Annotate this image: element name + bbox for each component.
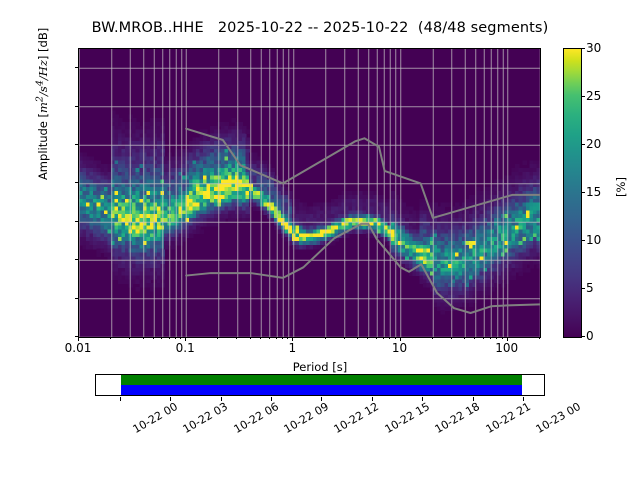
x-tick-mark	[451, 337, 452, 339]
x-tick-mark	[236, 337, 237, 339]
x-tick-mark	[292, 337, 293, 341]
x-tick-mark	[395, 337, 396, 339]
x-tick-mark	[367, 337, 368, 339]
data-coverage-bar	[121, 375, 522, 385]
colorbar-tick-mark	[581, 48, 585, 49]
x-tick-mark	[344, 337, 345, 339]
timeline-tick-label: 10-22 09	[282, 400, 331, 436]
x-tick-mark	[143, 337, 144, 339]
x-tick-mark	[282, 337, 283, 339]
x-tick-label: 100	[462, 341, 552, 355]
x-tick-mark	[507, 337, 508, 341]
x-tick-mark	[325, 337, 326, 339]
timeline-tick-label: 10-22 18	[433, 400, 482, 436]
timeline-tick-mark	[321, 397, 322, 401]
ppsd-axes[interactable]	[78, 48, 541, 338]
x-tick-mark	[185, 337, 186, 341]
colorbar-tick-mark	[581, 144, 585, 145]
y-axis-label: Amplitude [m2/s4/Hz] [dB]	[34, 4, 50, 204]
x-tick-mark	[250, 337, 251, 339]
timeline-tick-label: 10-23 00	[534, 400, 583, 436]
x-tick-label: 0.1	[140, 341, 230, 355]
x-axis-label: Period [s]	[0, 360, 640, 374]
timeline-axes[interactable]	[95, 374, 545, 396]
x-tick-mark	[260, 337, 261, 339]
timeline-tick-label: 10-22 15	[382, 400, 431, 436]
timeline-tick-mark	[120, 397, 121, 401]
x-tick-mark	[432, 337, 433, 339]
x-tick-mark	[357, 337, 358, 339]
y-tick-mark	[75, 67, 79, 68]
colorbar-tick-label: 5	[586, 282, 626, 294]
timeline-tick-mark	[271, 397, 272, 401]
y-tick-mark	[75, 221, 79, 222]
y-tick-mark	[75, 106, 79, 107]
y-tick-mark	[75, 144, 79, 145]
x-tick-mark	[502, 337, 503, 339]
x-tick-label: 1	[247, 341, 337, 355]
x-tick-mark	[389, 337, 390, 339]
page-title: BW.MROB..HHE 2025-10-22 -- 2025-10-22 (4…	[0, 20, 640, 36]
x-tick-mark	[383, 337, 384, 339]
x-tick-mark	[269, 337, 270, 339]
timeline-tick-label: 10-22 12	[332, 400, 381, 436]
x-tick-mark	[217, 337, 218, 339]
timeline-tick-mark	[170, 397, 171, 401]
timeline-tick-label: 10-22 03	[181, 400, 230, 436]
timeline-tick-mark	[473, 397, 474, 401]
timeline-tick-mark	[221, 397, 222, 401]
x-tick-mark	[376, 337, 377, 339]
ppsd-figure: BW.MROB..HHE 2025-10-22 -- 2025-10-22 (4…	[0, 0, 640, 480]
colorbar-tick-label: 0	[586, 330, 626, 342]
x-tick-mark	[464, 337, 465, 339]
timeline-tick-mark	[422, 397, 423, 401]
x-tick-mark	[539, 337, 540, 339]
x-tick-mark	[474, 337, 475, 339]
colorbar-tick-mark	[581, 192, 585, 193]
colorbar-tick-mark	[581, 336, 585, 337]
timeline-tick-label: 10-22 00	[130, 400, 179, 436]
x-tick-label: 0.01	[33, 341, 123, 355]
colorbar-tick-mark	[581, 96, 585, 97]
x-tick-mark	[180, 337, 181, 339]
colorbar	[563, 48, 582, 338]
timeline-tick-label: 10-22 06	[231, 400, 280, 436]
x-tick-mark	[110, 337, 111, 339]
x-tick-mark	[129, 337, 130, 339]
colorbar-tick-label: 25	[586, 90, 626, 102]
x-tick-mark	[490, 337, 491, 339]
psd-segments-bar	[121, 385, 522, 395]
timeline-tick-mark	[372, 397, 373, 401]
colorbar-tick-label: 20	[586, 138, 626, 150]
x-tick-mark	[153, 337, 154, 339]
colorbar-tick-mark	[581, 288, 585, 289]
timeline-tick-label: 10-22 21	[483, 400, 532, 436]
colorbar-tick-label: 30	[586, 42, 626, 54]
y-tick-mark	[75, 182, 79, 183]
ppsd-histogram-canvas	[79, 49, 540, 337]
x-tick-mark	[78, 337, 79, 341]
colorbar-tick-label: 10	[586, 234, 626, 246]
timeline-tick-mark	[523, 397, 524, 401]
x-tick-mark	[287, 337, 288, 339]
x-tick-label: 10	[355, 341, 445, 355]
x-tick-mark	[276, 337, 277, 339]
y-tick-mark	[75, 298, 79, 299]
x-tick-mark	[161, 337, 162, 339]
x-tick-mark	[400, 337, 401, 341]
colorbar-tick-mark	[581, 240, 585, 241]
x-tick-mark	[175, 337, 176, 339]
x-tick-mark	[483, 337, 484, 339]
colorbar-label: [%]	[614, 157, 628, 217]
y-tick-mark	[75, 259, 79, 260]
x-tick-mark	[169, 337, 170, 339]
x-tick-mark	[496, 337, 497, 339]
